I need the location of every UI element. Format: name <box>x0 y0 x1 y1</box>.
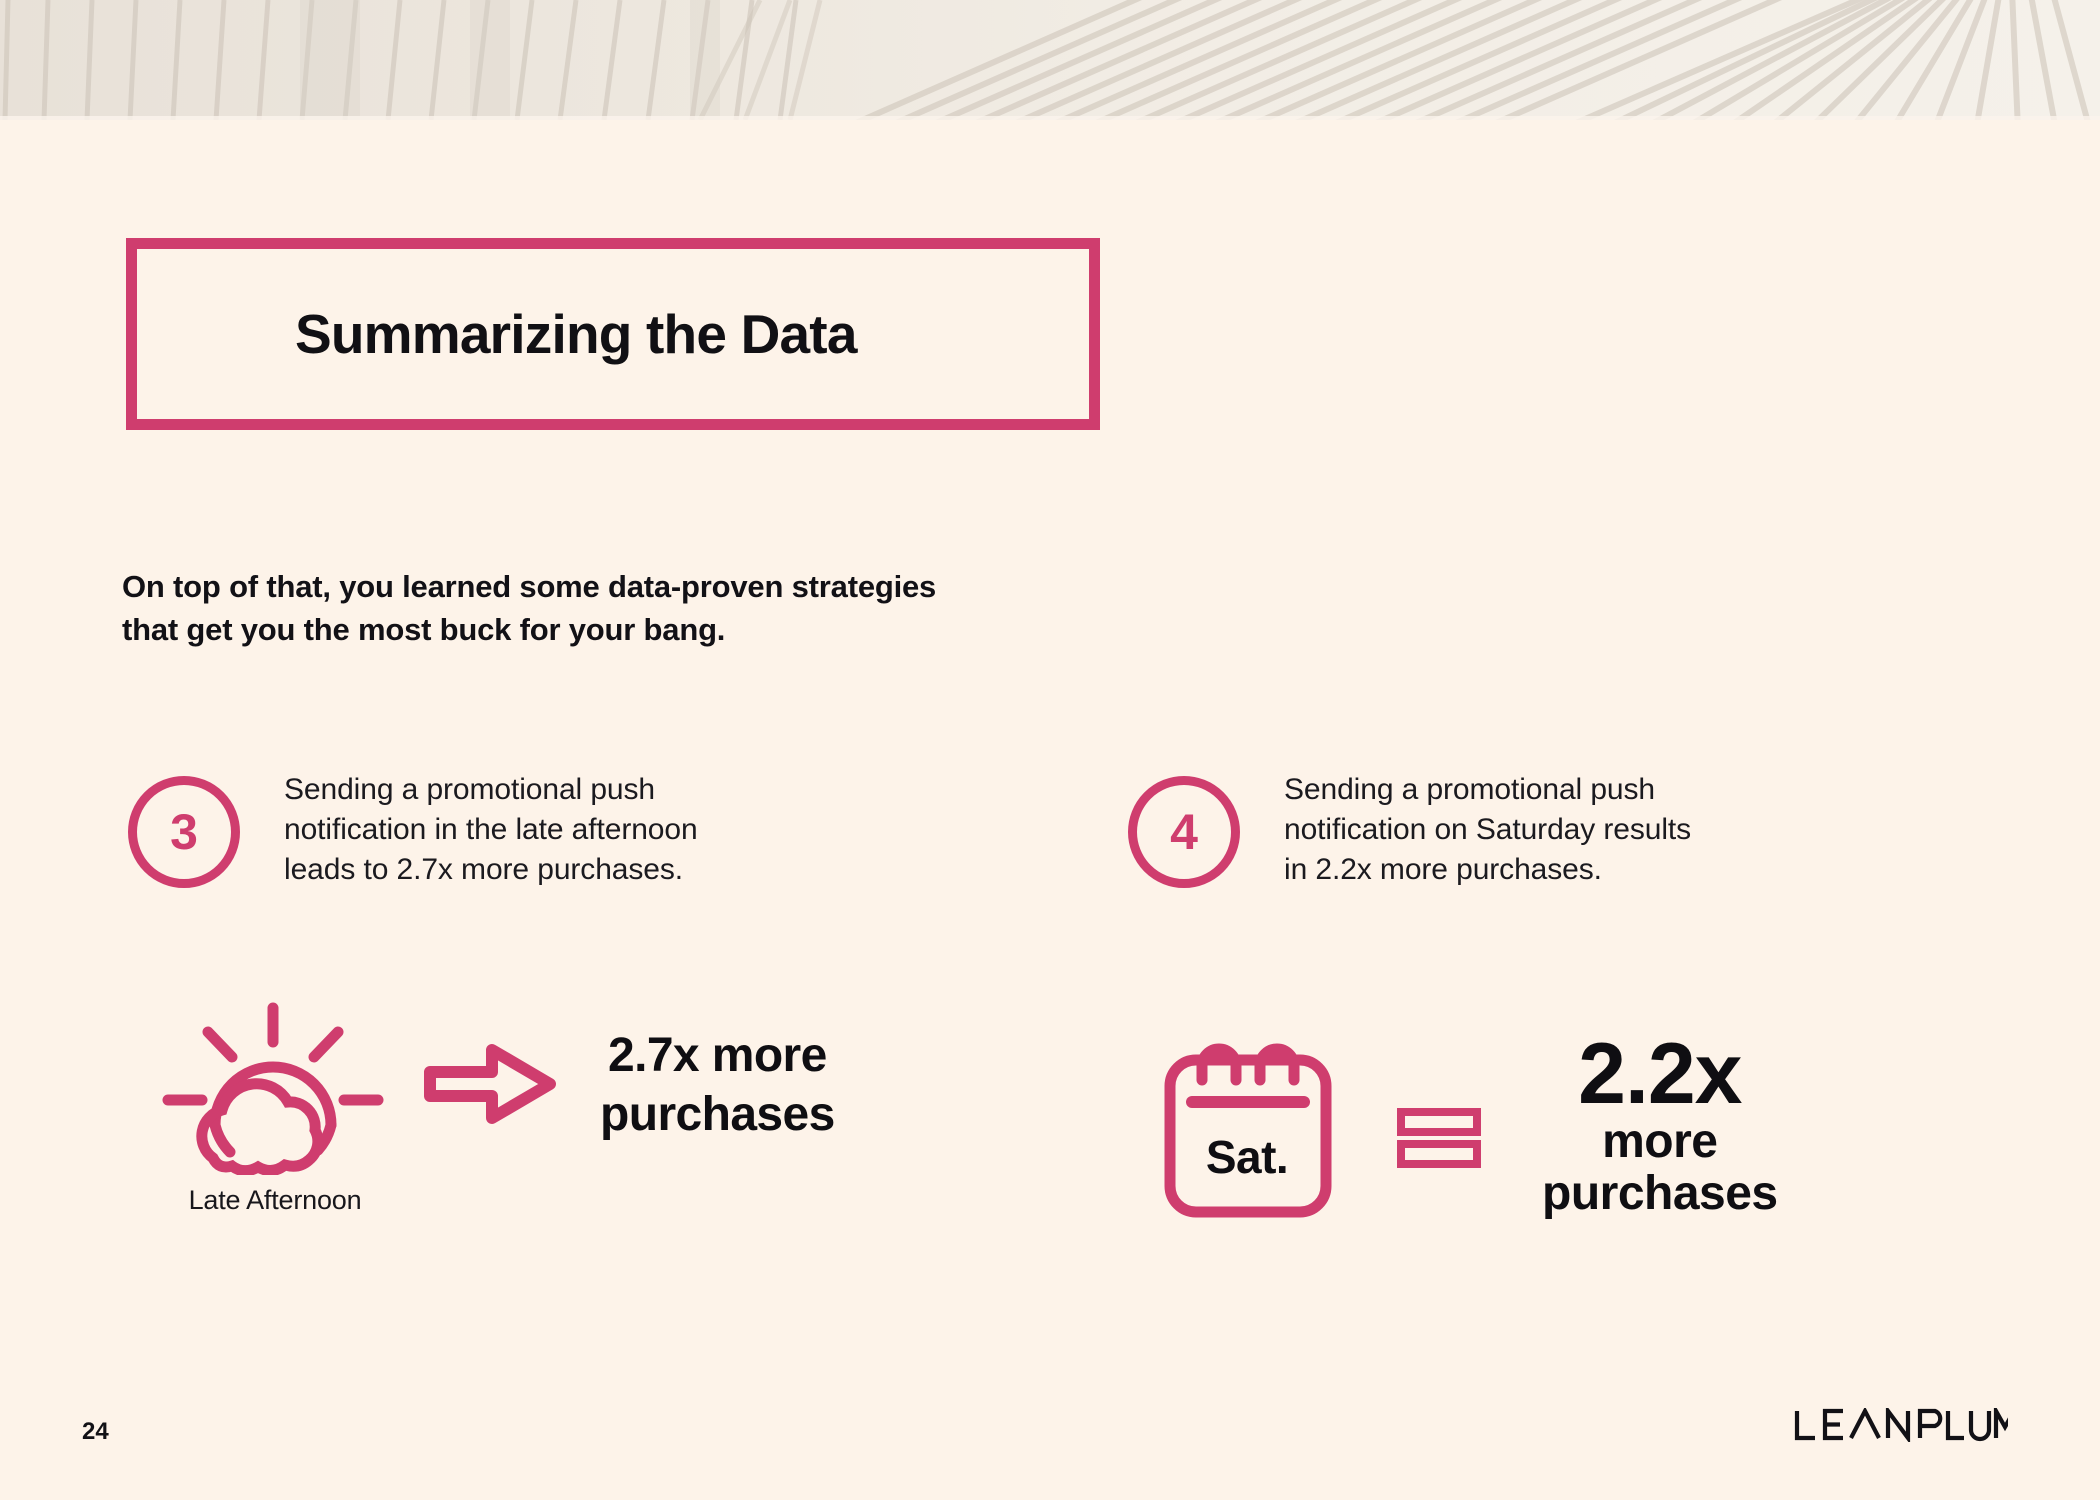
stat-left-value-line-1: 2.7x more <box>600 1027 835 1086</box>
leanplum-logo-icon <box>1793 1408 2008 1442</box>
sun-icon-group: Late Afternoon <box>150 1000 400 1216</box>
point-3-line-3: leads to 2.7x more purchases. <box>284 850 698 890</box>
point-text-4: Sending a promotional push notification … <box>1284 770 1691 890</box>
stat-right-value: 2.2x more purchases <box>1542 1034 1778 1221</box>
calendar-day-label: Sat. <box>1160 1130 1334 1184</box>
sun-icon-caption: Late Afternoon <box>189 1185 362 1216</box>
point-3-line-1: Sending a promotional push <box>284 770 698 810</box>
stat-right-value-line-2: purchases <box>1542 1168 1778 1221</box>
point-4-line-3: in 2.2x more purchases. <box>1284 850 1691 890</box>
equals-operator <box>1394 1102 1484 1179</box>
arrow-operator <box>420 1034 560 1139</box>
calendar-icon <box>1160 1030 1336 1220</box>
stat-left-value-line-2: purchases <box>600 1086 835 1145</box>
equals-icon <box>1394 1102 1484 1174</box>
arrow-right-icon <box>420 1034 560 1134</box>
leanplum-logo <box>1793 1408 2008 1447</box>
stat-block-right: Sat. 2.2x more purchases <box>1160 1030 1778 1225</box>
intro-paragraph: On top of that, you learned some data-pr… <box>122 566 1322 652</box>
point-text-3: Sending a promotional push notification … <box>284 770 698 890</box>
numbered-point-3: 3 Sending a promotional push notificatio… <box>128 770 698 890</box>
intro-line-1: On top of that, you learned some data-pr… <box>122 566 1322 609</box>
point-4-line-1: Sending a promotional push <box>1284 770 1691 810</box>
stat-right-value-big: 2.2x <box>1542 1034 1778 1116</box>
intro-line-2: that get you the most buck for your bang… <box>122 609 1322 652</box>
decorative-banner <box>0 0 2100 120</box>
banner-texture-svg <box>0 0 2100 120</box>
title-box: Summarizing the Data <box>126 238 1100 430</box>
stat-block-left: Late Afternoon 2.7x more purchases <box>150 1000 835 1216</box>
calendar-icon-group: Sat. <box>1160 1030 1336 1225</box>
sun-behind-cloud-icon <box>160 1000 390 1175</box>
point-number-badge-4: 4 <box>1128 776 1240 888</box>
point-3-line-2: notification in the late afternoon <box>284 810 698 850</box>
stat-left-value: 2.7x more purchases <box>600 1027 835 1144</box>
page-number: 24 <box>82 1418 109 1446</box>
point-4-line-2: notification on Saturday results <box>1284 810 1691 850</box>
stat-right-value-line-1: more <box>1542 1116 1778 1169</box>
point-number-badge-3: 3 <box>128 776 240 888</box>
page-title: Summarizing the Data <box>295 307 857 362</box>
numbered-point-4: 4 Sending a promotional push notificatio… <box>1128 770 1691 890</box>
